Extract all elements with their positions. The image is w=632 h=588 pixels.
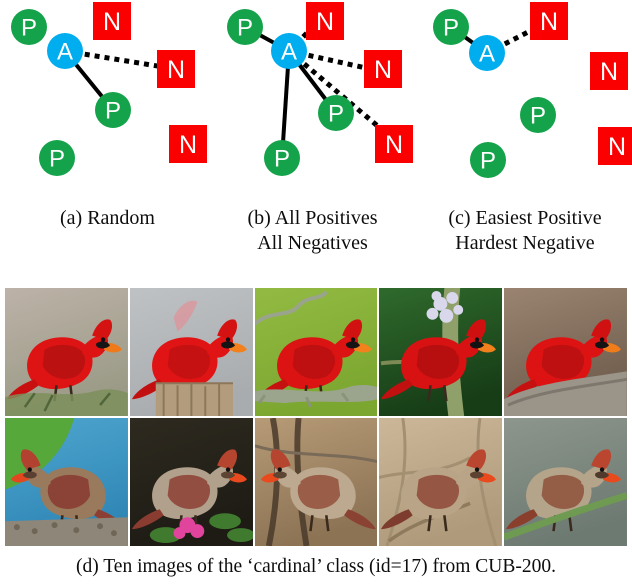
positive-node-label: P <box>480 148 496 175</box>
gallery-image: Male cardinal with wing raised standing … <box>130 288 253 416</box>
anchor-node-label: A <box>479 41 495 68</box>
negative-node-label: N <box>600 58 618 86</box>
positive-node: P <box>11 9 47 45</box>
panel-c-canvas: NNNPPPA <box>420 0 632 200</box>
caption-panel-b: (b) All Positives All Negatives <box>210 206 415 256</box>
bird-photo-render <box>504 418 627 546</box>
negative-node: N <box>590 52 628 90</box>
positive-node: P <box>39 140 75 176</box>
negative-node: N <box>93 2 131 40</box>
bird-photo-render <box>5 288 128 416</box>
bird-photo-render <box>130 418 253 546</box>
caption-panel-a: (a) Random <box>5 206 210 231</box>
positive-node: P <box>470 142 506 178</box>
caption-panel-c: (c) Easiest Positive Hardest Negative <box>420 206 630 256</box>
negative-node-label: N <box>179 131 197 159</box>
gallery-image: Male cardinal perched on evergreen branc… <box>5 288 128 416</box>
bird-photo-render <box>255 418 378 546</box>
negative-node-label: N <box>540 8 558 36</box>
negative-node-label: N <box>103 8 121 36</box>
panel-b-canvas: NNNPPPA <box>212 0 417 200</box>
positive-node: P <box>318 95 354 131</box>
negative-node: N <box>375 125 413 163</box>
anchor-node: A <box>271 33 307 69</box>
negative-node-label: N <box>608 133 626 161</box>
negative-node: N <box>157 50 195 88</box>
gallery-image: Male cardinal on lichen-covered branch, … <box>255 288 378 416</box>
diagram-panel-easiest-positive-hardest-negative: NNNPPPA <box>420 0 632 200</box>
positive-node-label: P <box>443 15 459 42</box>
caption-panel-d: (d) Ten images of the ‘cardinal’ class (… <box>0 556 632 578</box>
positive-node-label: P <box>105 98 121 125</box>
positive-node: P <box>520 97 556 133</box>
gallery-image: Female cardinal on green branch, gray-gr… <box>504 418 627 546</box>
positive-node-label: P <box>530 103 546 130</box>
positive-node: P <box>433 9 469 45</box>
diagram-panel-all-positives-all-negatives: NNNPPPA <box>212 0 417 200</box>
gallery-image: Male cardinal perched on weathered log, … <box>504 288 627 416</box>
negative-node-label: N <box>167 56 185 84</box>
bird-photo-render <box>255 288 378 416</box>
positive-node-label: P <box>328 101 344 128</box>
bird-photo-render <box>5 418 128 546</box>
bird-photo-render <box>504 288 627 416</box>
positive-node-label: P <box>21 15 37 42</box>
figure-root: NNNPPPA NNNPPPA NNNPPPA (a) Random (b) A… <box>0 0 632 588</box>
anchor-node-label: A <box>281 39 297 66</box>
anchor-node: A <box>469 35 505 71</box>
negative-node: N <box>530 2 568 40</box>
panel-a-canvas: NNNPPPA <box>5 0 210 200</box>
positive-node: P <box>264 140 300 176</box>
positive-node: P <box>95 92 131 128</box>
cardinal-image-grid: Male cardinal perched on evergreen branc… <box>5 288 627 546</box>
diagram-panel-random: NNNPPPA <box>5 0 210 200</box>
bird-photo-render <box>130 288 253 416</box>
gallery-image: Male cardinal on stem beside white lilac… <box>379 288 502 416</box>
negative-node-label: N <box>385 131 403 159</box>
anchor-node-label: A <box>57 39 73 66</box>
negative-node: N <box>306 2 344 40</box>
negative-node-label: N <box>316 8 334 36</box>
negative-node: N <box>598 127 632 165</box>
positive-node-label: P <box>237 15 253 42</box>
positive-node-label: P <box>49 146 65 173</box>
gallery-image: Female cardinal on seed-covered ledge, g… <box>5 418 128 546</box>
bird-photo-render <box>379 288 502 416</box>
negative-node: N <box>364 50 402 88</box>
anchor-node: A <box>47 33 83 69</box>
bird-photo-render <box>379 418 502 546</box>
gallery-image: Female cardinal among thin twigs, pale t… <box>379 418 502 546</box>
positive-node-label: P <box>274 146 290 173</box>
negative-node-label: N <box>374 56 392 84</box>
gallery-image: Female cardinal at wire feeder, tan blur… <box>255 418 378 546</box>
positive-node: P <box>227 9 263 45</box>
negative-node: N <box>169 125 207 163</box>
gallery-image: Female cardinal perched on pink flower w… <box>130 418 253 546</box>
